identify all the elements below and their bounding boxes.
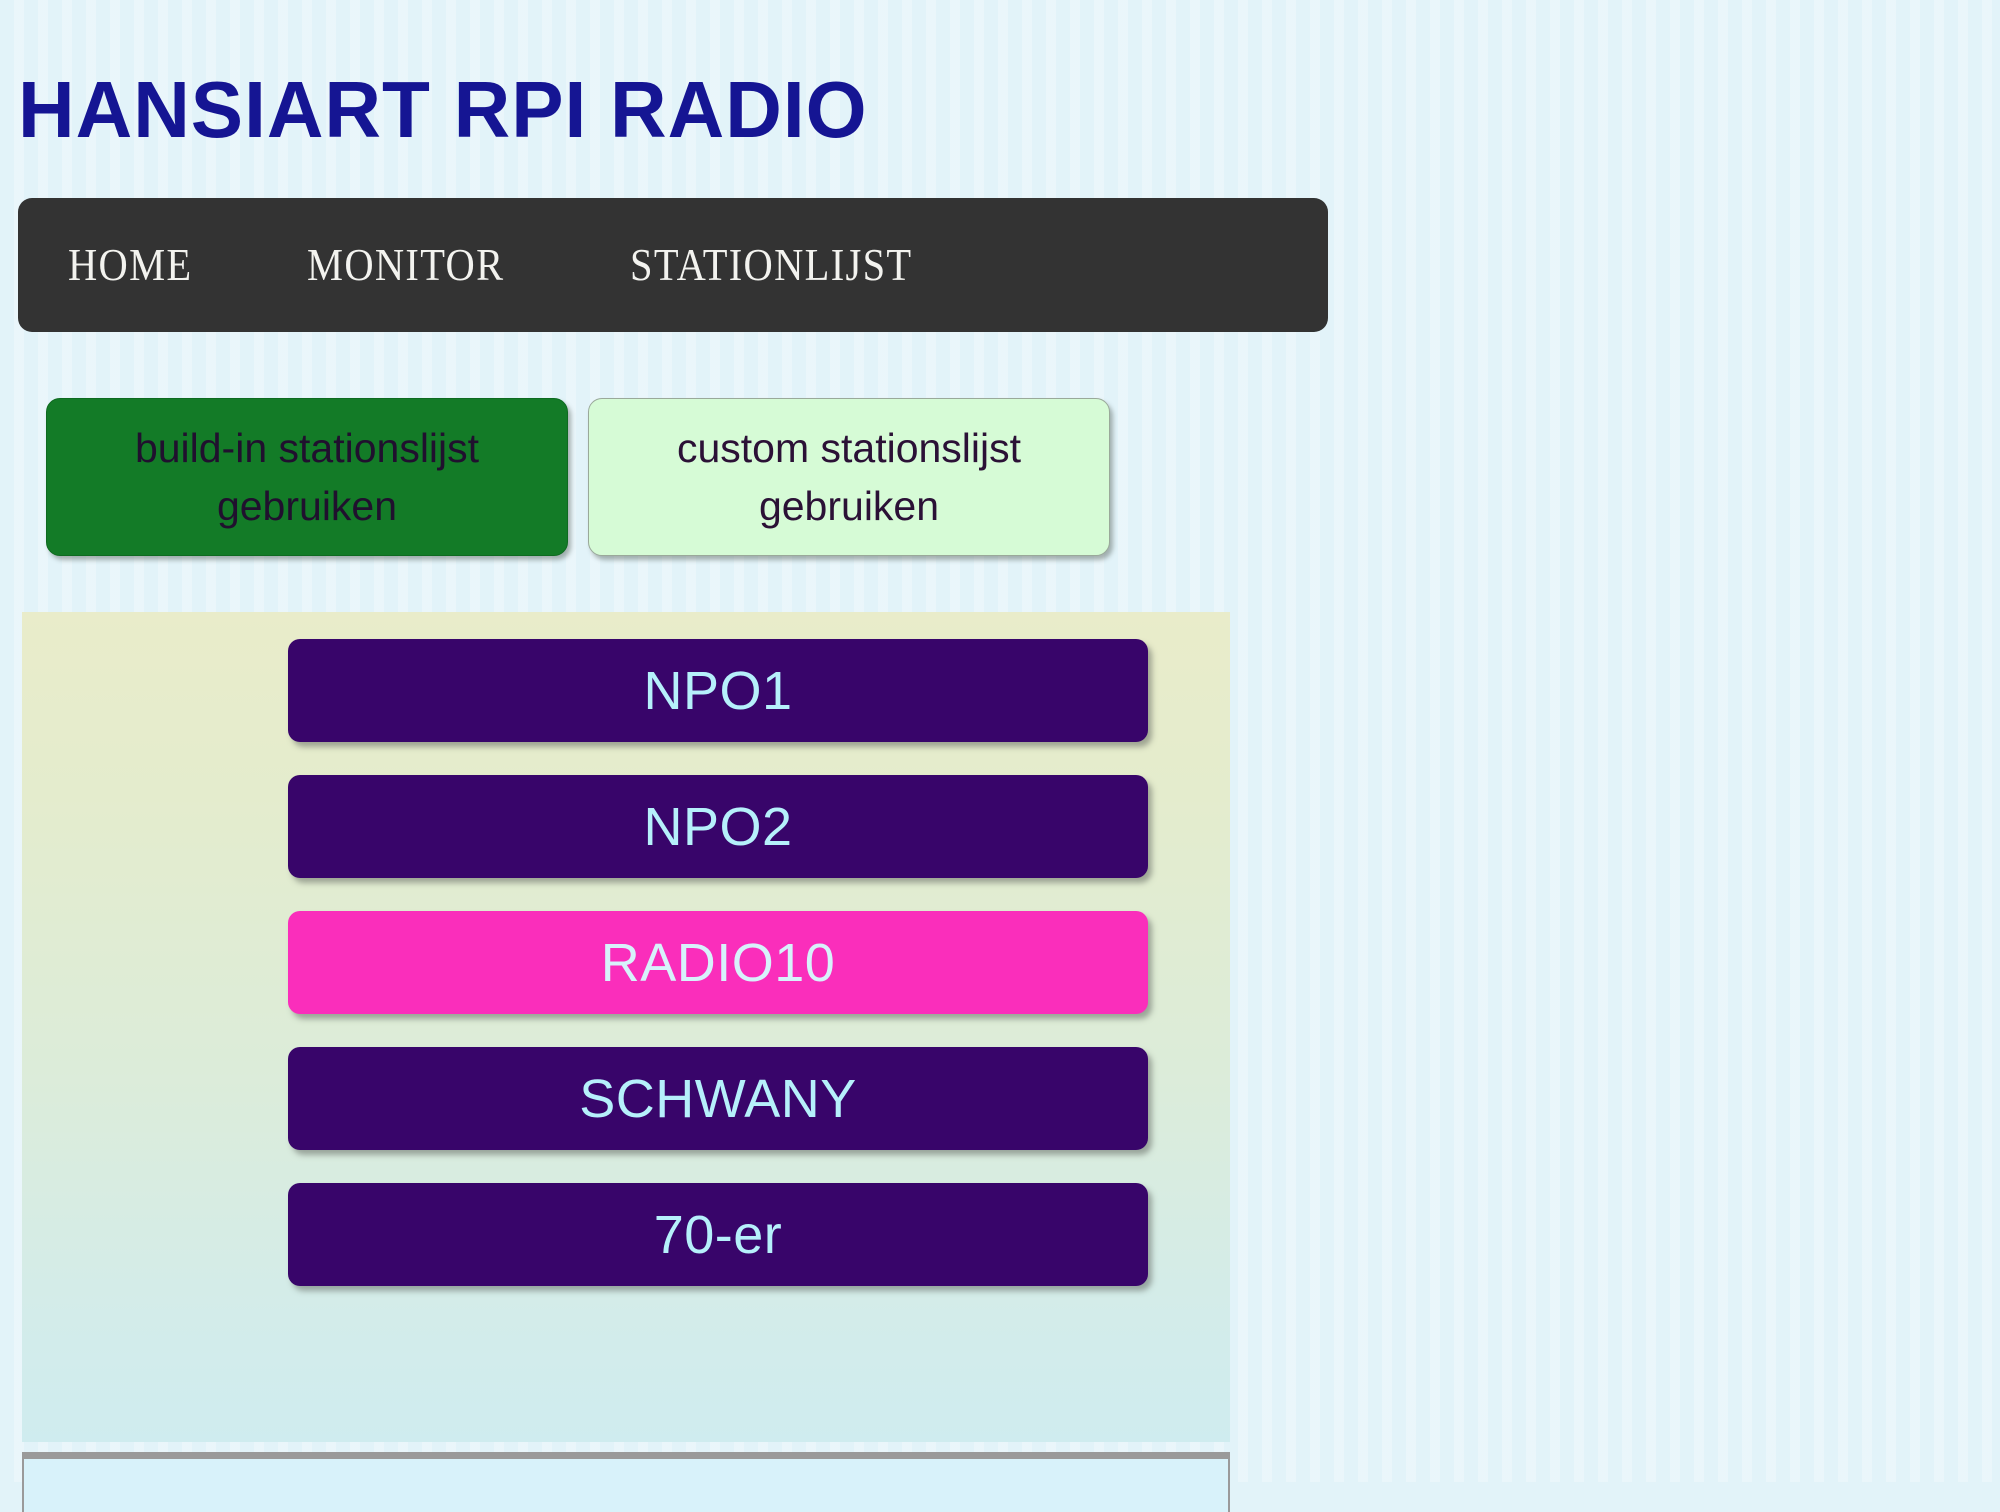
nav-item-home[interactable]: HOME — [68, 242, 192, 288]
station-button-70-er[interactable]: 70-er — [288, 1183, 1148, 1286]
use-custom-stationlist-button[interactable]: custom stationslijst gebruiken — [588, 398, 1110, 556]
page-title: HANSIART RPI RADIO — [18, 62, 868, 158]
station-button-schwany[interactable]: SCHWANY — [288, 1047, 1148, 1150]
station-button-npo1[interactable]: NPO1 — [288, 639, 1148, 742]
nav-item-monitor[interactable]: MONITOR — [307, 242, 504, 288]
lower-panel — [22, 1452, 1230, 1512]
radio-app-page: HANSIART RPI RADIO HOME MONITOR STATIONL… — [0, 0, 2000, 1482]
use-builtin-stationlist-button[interactable]: build-in stationslijst gebruiken — [46, 398, 568, 556]
nav-item-stationlijst[interactable]: STATIONLIJST — [630, 242, 912, 288]
custom-button-line1: custom stationslijst — [677, 419, 1021, 477]
custom-button-line2: gebruiken — [677, 477, 1021, 535]
builtin-button-line2: gebruiken — [135, 477, 479, 535]
station-list-panel: NPO1 NPO2 RADIO10 SCHWANY 70-er — [22, 612, 1230, 1442]
station-button-npo2[interactable]: NPO2 — [288, 775, 1148, 878]
station-button-radio10[interactable]: RADIO10 — [288, 911, 1148, 1014]
builtin-button-line1: build-in stationslijst — [135, 419, 479, 477]
stationlist-source-toggle: build-in stationslijst gebruiken custom … — [46, 398, 1110, 556]
main-navbar: HOME MONITOR STATIONLIJST — [18, 198, 1328, 332]
navbar-items: HOME MONITOR STATIONLIJST — [68, 198, 951, 332]
station-list: NPO1 NPO2 RADIO10 SCHWANY 70-er — [288, 639, 1148, 1319]
